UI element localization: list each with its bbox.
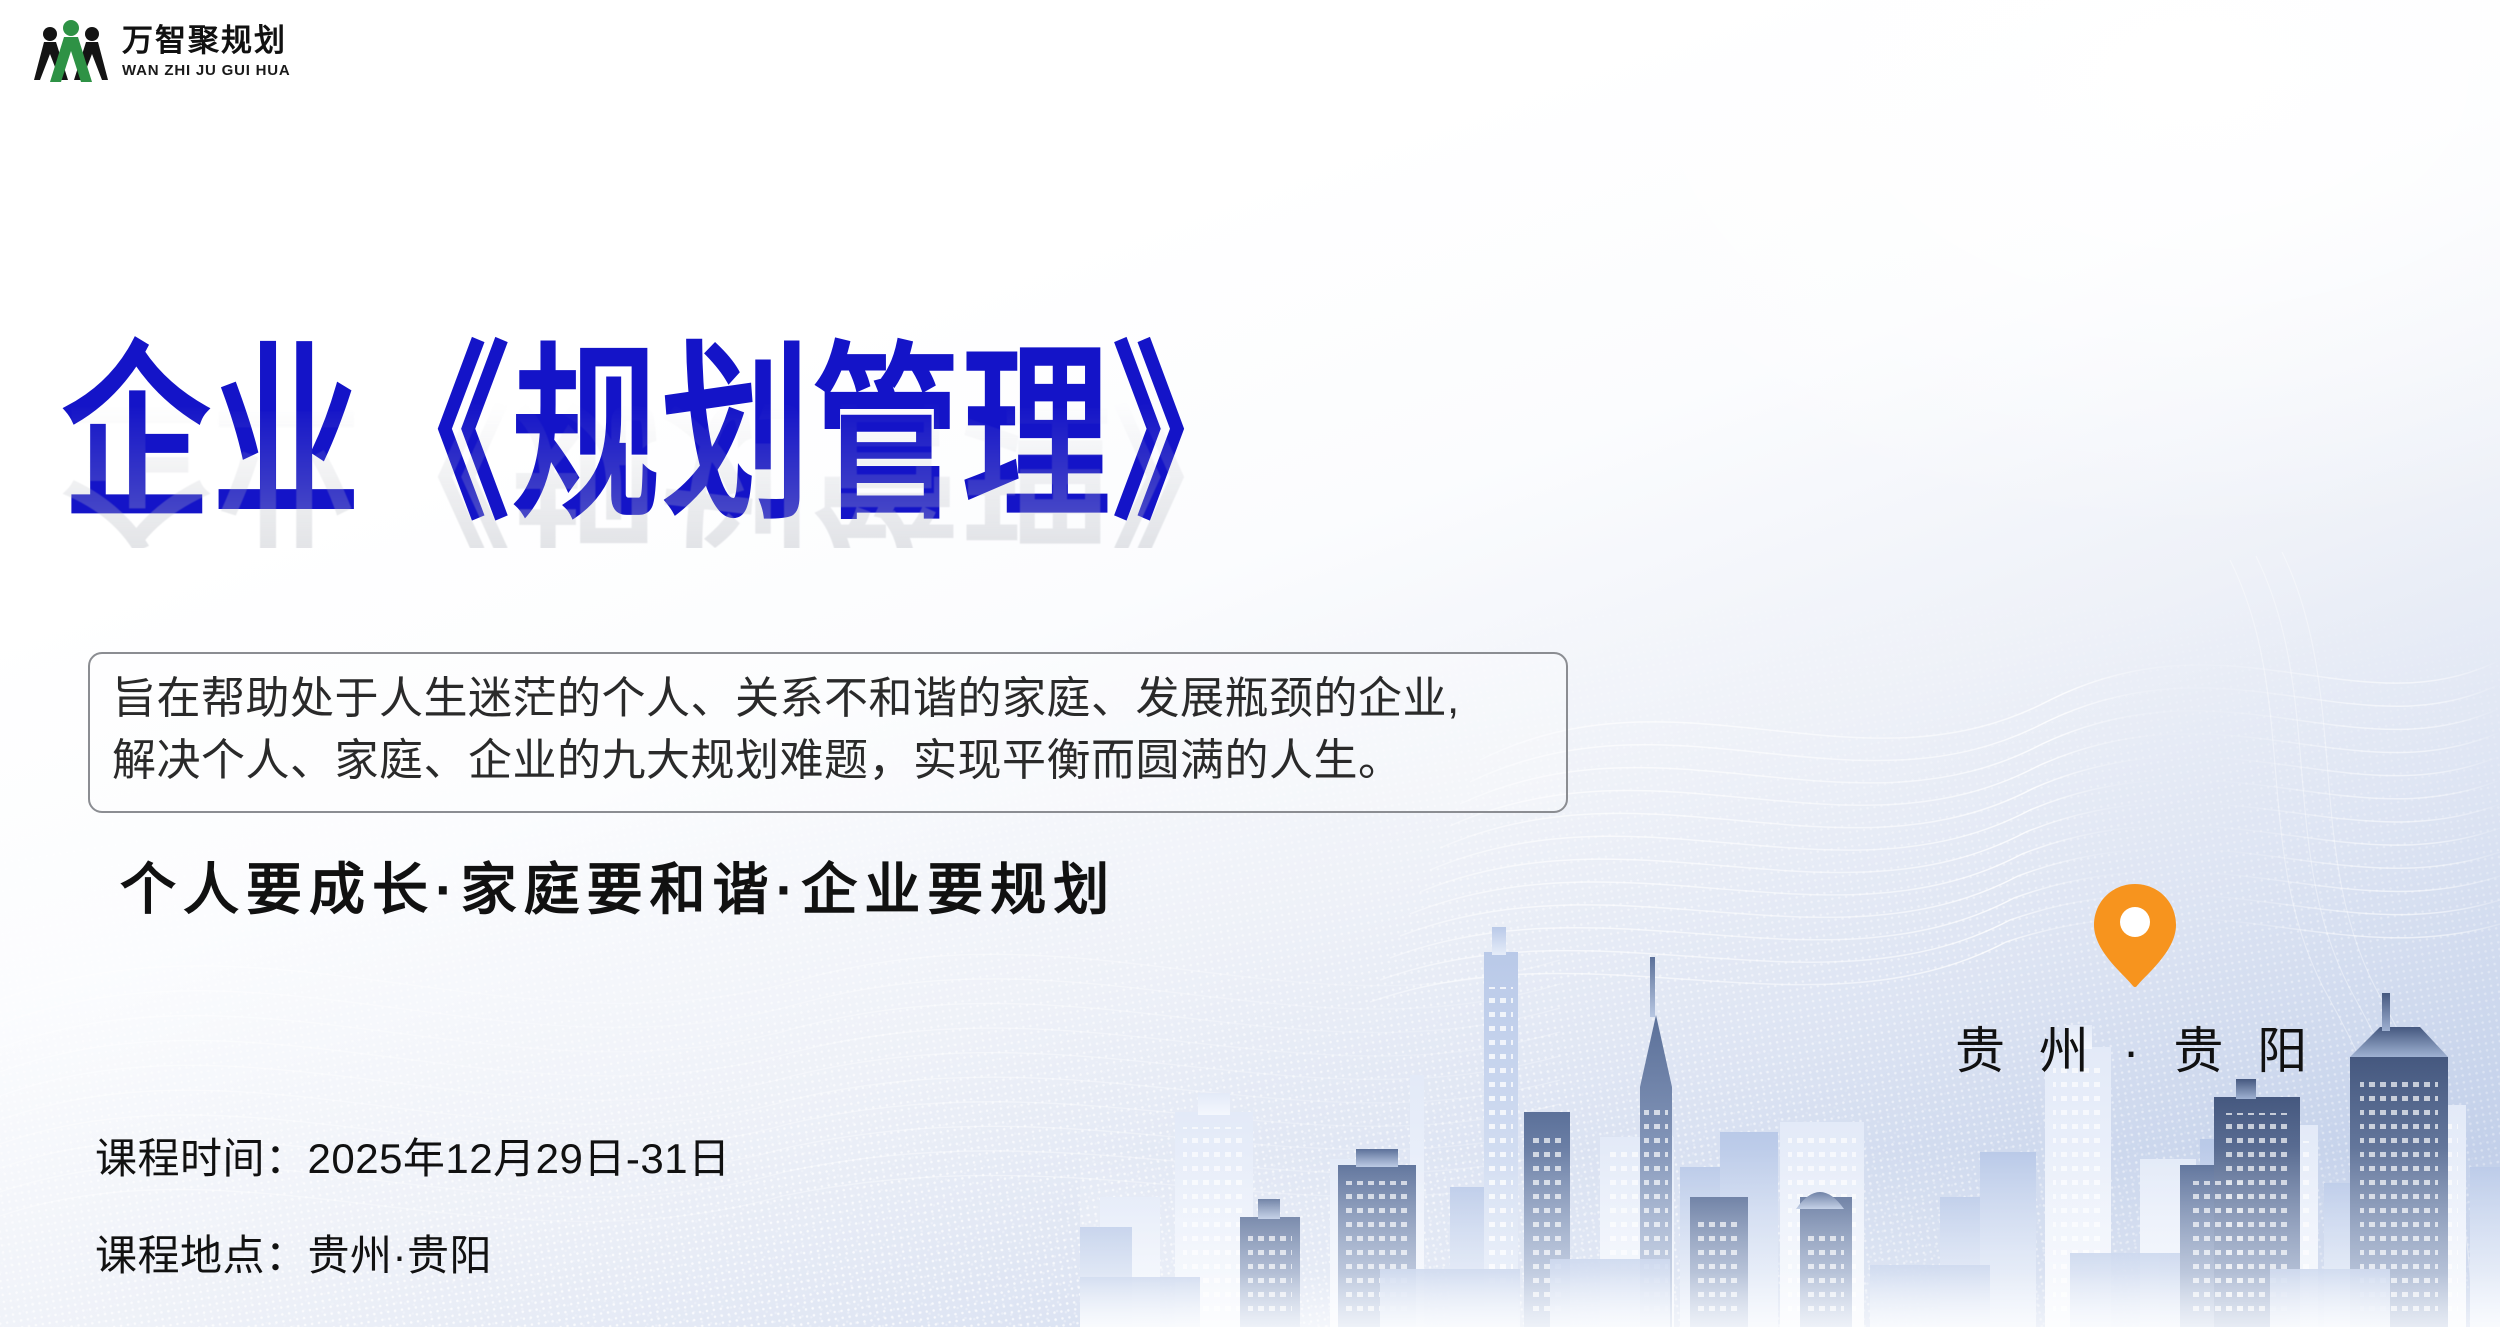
three-people-logo-icon: [34, 18, 108, 84]
description-line-2: 解决个人、家庭、企业的九大规划难题，实现平衡而圆满的人生。: [112, 730, 1544, 792]
brand-name-en: WAN ZHI JU GUI HUA: [122, 63, 291, 78]
location-block: 贵 州 · 贵 阳: [1955, 880, 2315, 1083]
location-name: 贵 州 · 贵 阳: [1955, 1011, 2315, 1083]
course-place-row: 课程地点：贵州·贵阳: [95, 1222, 731, 1283]
poster-canvas: 万智聚规划 WAN ZHI JU GUI HUA 企业《规划管理》 企业《规划管…: [0, 0, 2500, 1327]
brand-logo[interactable]: 万智聚规划 WAN ZHI JU GUI HUA: [34, 18, 291, 84]
slogan-text: 个人要成长·家庭要和谐·企业要规划: [120, 845, 1116, 926]
course-time-row: 课程时间：2025年12月29日-31日: [95, 1125, 731, 1186]
description-box: 旨在帮助处于人生迷茫的个人、关系不和谐的家庭、发展瓶颈的企业, 解决个人、家庭、…: [88, 652, 1568, 813]
page-title-reflection: 企业《规划管理》: [62, 393, 1262, 548]
description-line-1: 旨在帮助处于人生迷茫的个人、关系不和谐的家庭、发展瓶颈的企业,: [112, 668, 1544, 730]
map-pin-icon: [1955, 880, 2315, 995]
course-info-block: 课程时间：2025年12月29日-31日 课程地点：贵州·贵阳: [95, 1125, 731, 1319]
hero-title-block: 企业《规划管理》 企业《规划管理》: [62, 342, 1622, 642]
brand-name-cn: 万智聚规划: [122, 25, 291, 56]
